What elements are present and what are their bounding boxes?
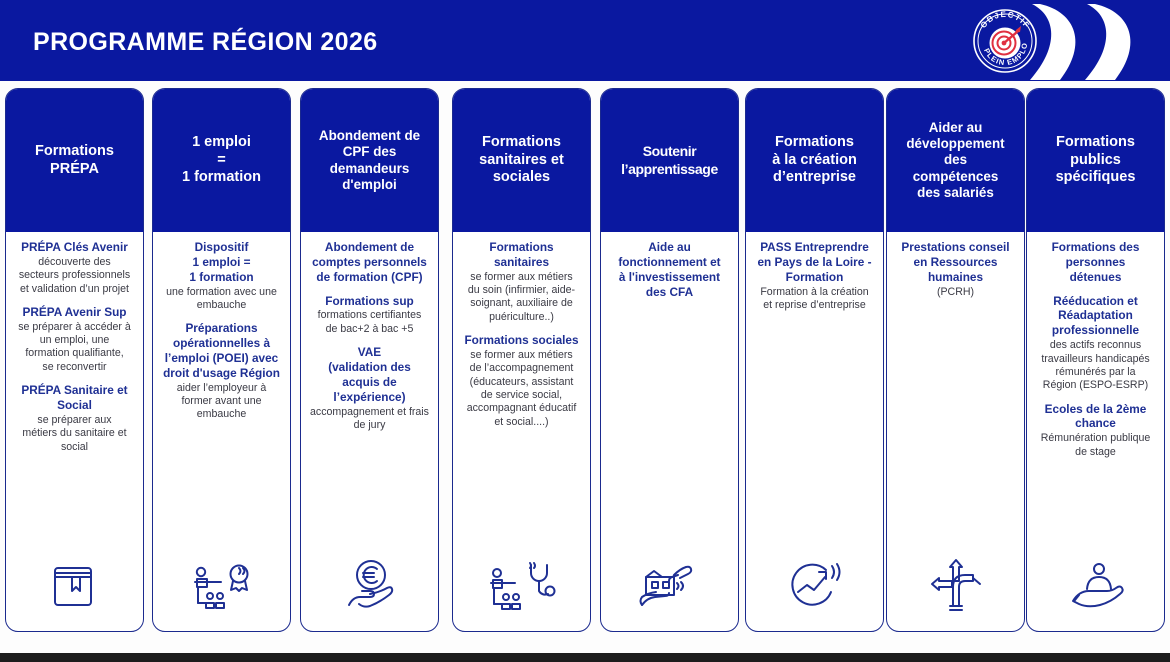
column-header-label: Formations PRÉPA [35, 143, 114, 179]
column-header: Formations PRÉPA [6, 89, 143, 232]
column-header: Soutenir l’apprentissage [601, 89, 738, 232]
infographic-root: PROGRAMME RÉGION 2026 [0, 0, 1170, 662]
column-header: Aider au développement des compétences d… [887, 89, 1024, 232]
column-header-label: Formations publics spécifiques [1056, 134, 1136, 188]
objectif-plein-emploi-logo: OBJECTIF PLEIN EMPLOI [972, 8, 1038, 74]
swoosh-decoration-icon [1030, 4, 1160, 80]
block-subtitle: accompagnement et frais de jury [306, 406, 433, 433]
column-abondement-cpf[interactable]: Abondement de CPF des demandeurs d'emplo… [300, 88, 439, 632]
block-title: Formations des personnes détenues [1032, 240, 1159, 285]
column-body: Formations sanitaires se former aux méti… [453, 232, 590, 545]
content-block: Abondement de comptes personnels de form… [306, 240, 433, 285]
content-block: PRÉPA Avenir Sup se préparer à accéder à… [11, 305, 138, 374]
block-subtitle: Rémunération publique de stage [1032, 432, 1159, 459]
column-body: Abondement de comptes personnels de form… [301, 232, 438, 545]
block-subtitle: (PCRH) [892, 286, 1019, 299]
block-title: Aide au fonctionnement et à l'investisse… [606, 240, 733, 299]
column-icon-area [746, 545, 883, 631]
block-title: Préparations opérationnelles à l’emploi … [158, 321, 285, 380]
content-block: Aide au fonctionnement et à l'investisse… [606, 240, 733, 299]
block-title: PASS Entreprendre en Pays de la Loire - … [751, 240, 878, 285]
content-block: Formations des personnes détenues [1032, 240, 1159, 285]
column-body: Aide au fonctionnement et à l'investisse… [601, 232, 738, 545]
block-title: Prestations conseil en Ressources humain… [892, 240, 1019, 285]
content-block: Ecoles de la 2ème chance Rémunération pu… [1032, 402, 1159, 459]
teacher-medal-icon [189, 558, 255, 612]
program-columns: Formations PRÉPA PRÉPA Clés Avenir décou… [0, 88, 1170, 634]
block-title: Formations sup [306, 294, 433, 309]
block-title: PRÉPA Avenir Sup [11, 305, 138, 320]
column-icon-area [887, 545, 1024, 631]
content-block: Formations sup formations certifiantes d… [306, 294, 433, 337]
column-header: Abondement de CPF des demandeurs d'emplo… [301, 89, 438, 232]
page-banner: PROGRAMME RÉGION 2026 [0, 0, 1170, 81]
content-block: VAE (validation des acquis de l’expérien… [306, 345, 433, 432]
column-header: Formations publics spécifiques [1027, 89, 1164, 232]
column-soutenir-apprentissage[interactable]: Soutenir l’apprentissage Aide au fonctio… [600, 88, 739, 632]
column-header: 1 emploi = 1 formation [153, 89, 290, 232]
block-title: Formations sanitaires [458, 240, 585, 270]
block-title: Abondement de comptes personnels de form… [306, 240, 433, 285]
content-block: Formations sanitaires se former aux méti… [458, 240, 585, 324]
column-header-label: Aider au développement des compétences d… [906, 120, 1004, 202]
column-icon-area [153, 545, 290, 631]
block-subtitle: découverte des secteurs professionnels e… [11, 256, 138, 296]
column-body: PRÉPA Clés Avenir découverte des secteur… [6, 232, 143, 545]
column-un-emploi-une-formation[interactable]: 1 emploi = 1 formation Dispositif 1 empl… [152, 88, 291, 632]
block-subtitle: se préparer aux métiers du sanitaire et … [11, 414, 138, 454]
column-developpement-competences-salaries[interactable]: Aider au développement des compétences d… [886, 88, 1025, 632]
block-title: PRÉPA Sanitaire et Social [11, 383, 138, 413]
content-block: Rééducation et Réadaptation professionne… [1032, 294, 1159, 393]
column-header: Formations sanitaires et sociales [453, 89, 590, 232]
column-icon-area [601, 545, 738, 631]
block-subtitle: Formation à la création et reprise d’ent… [751, 286, 878, 313]
three-way-arrows-icon [928, 556, 984, 614]
banner-logo-area: OBJECTIF PLEIN EMPLOI [970, 2, 1160, 80]
column-body: PASS Entreprendre en Pays de la Loire - … [746, 232, 883, 545]
content-block: Prestations conseil en Ressources humain… [892, 240, 1019, 299]
block-subtitle: une formation avec une embauche [158, 286, 285, 313]
block-subtitle: se préparer à accéder à un emploi, une f… [11, 321, 138, 374]
hand-person-support-icon [1065, 559, 1127, 611]
column-header: Formations à la création d’entreprise [746, 89, 883, 232]
column-formations-sanitaires-sociales[interactable]: Formations sanitaires et sociales Format… [452, 88, 591, 632]
content-block: Préparations opérationnelles à l’emploi … [158, 321, 285, 421]
block-subtitle: des actifs reconnus travailleurs handica… [1032, 339, 1159, 392]
hand-euro-coin-icon [341, 557, 399, 613]
growth-chart-circle-icon [786, 558, 844, 612]
bottom-edge-bar [0, 653, 1170, 662]
column-header-label: Soutenir l’apprentissage [621, 143, 718, 178]
block-title: Dispositif 1 emploi = 1 formation [158, 240, 285, 285]
column-header-label: Formations sanitaires et sociales [479, 134, 564, 188]
column-formations-publics-specifiques[interactable]: Formations publics spécifiques Formation… [1026, 88, 1165, 632]
column-icon-area [301, 545, 438, 631]
column-formations-creation-entreprise[interactable]: Formations à la création d’entreprise PA… [745, 88, 884, 632]
hands-building-icon [634, 557, 706, 613]
column-header-label: Abondement de CPF des demandeurs d'emplo… [319, 128, 420, 193]
content-block: Formations sociales se former aux métier… [458, 333, 585, 429]
column-formations-prepa[interactable]: Formations PRÉPA PRÉPA Clés Avenir décou… [5, 88, 144, 632]
column-header-label: 1 emploi = 1 formation [182, 134, 261, 188]
column-body: Formations des personnes détenues Rééduc… [1027, 232, 1164, 545]
block-subtitle: se former aux métiers du soin (infirmier… [458, 271, 585, 324]
teacher-stethoscope-icon [486, 557, 558, 613]
block-title: PRÉPA Clés Avenir [11, 240, 138, 255]
column-header-label: Formations à la création d’entreprise [772, 134, 857, 188]
block-title: Rééducation et Réadaptation professionne… [1032, 294, 1159, 339]
column-icon-area [1027, 545, 1164, 631]
block-title: Ecoles de la 2ème chance [1032, 402, 1159, 432]
content-block: PRÉPA Clés Avenir découverte des secteur… [11, 240, 138, 296]
content-block: PASS Entreprendre en Pays de la Loire - … [751, 240, 878, 312]
block-subtitle: se former aux métiers de l’accompagnemen… [458, 349, 585, 429]
column-icon-area [6, 545, 143, 631]
column-body: Prestations conseil en Ressources humain… [887, 232, 1024, 545]
page-title: PROGRAMME RÉGION 2026 [33, 28, 378, 57]
content-block: PRÉPA Sanitaire et Social se préparer au… [11, 383, 138, 454]
block-title: Formations sociales [458, 333, 585, 348]
column-body: Dispositif 1 emploi = 1 formation une fo… [153, 232, 290, 545]
column-icon-area [453, 545, 590, 631]
block-title: VAE (validation des acquis de l’expérien… [306, 345, 433, 404]
block-subtitle: aider l’employeur à former avant une emb… [158, 382, 285, 422]
block-subtitle: formations certifiantes de bac+2 à bac +… [306, 309, 433, 336]
content-block: Dispositif 1 emploi = 1 formation une fo… [158, 240, 285, 312]
book-bookmark-icon [48, 558, 102, 612]
